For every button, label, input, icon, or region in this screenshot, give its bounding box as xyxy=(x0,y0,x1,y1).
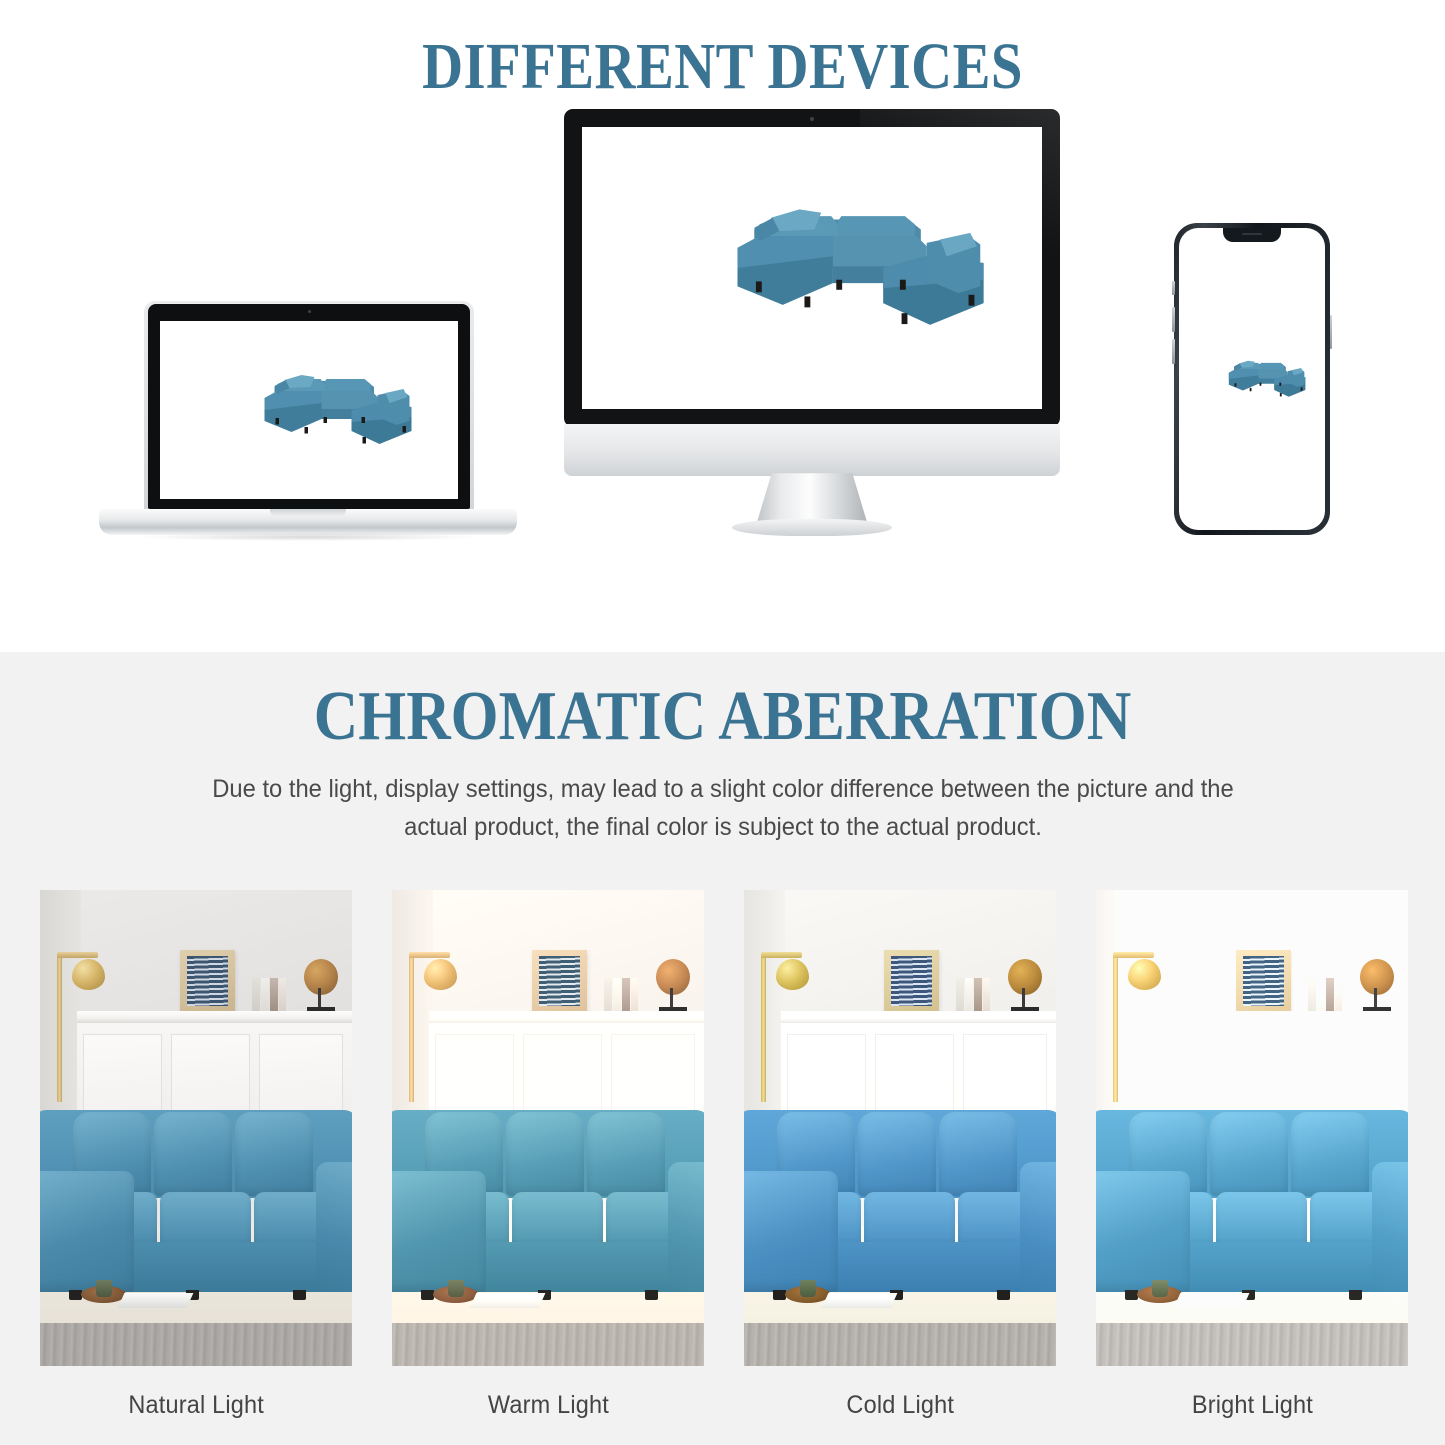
floor-lamp-pole xyxy=(57,954,62,1102)
phone-power-button[interactable] xyxy=(1330,315,1333,349)
book-stack xyxy=(252,978,286,1013)
book xyxy=(270,978,278,1013)
book xyxy=(631,978,639,1013)
light-comparison-grid: Natural Light xyxy=(40,890,1405,1420)
sofa-back-cushion xyxy=(1291,1112,1369,1196)
book-stack xyxy=(1308,978,1342,1013)
book xyxy=(1317,978,1325,1013)
chromatic-section-title: CHROMATIC ABERRATION xyxy=(87,652,1359,754)
laptop-screen xyxy=(160,321,458,499)
book xyxy=(613,978,621,1013)
sofa-chaise-module xyxy=(392,1171,486,1292)
floor-lamp-arm xyxy=(409,952,450,958)
phone-body xyxy=(1174,223,1330,535)
book xyxy=(279,978,287,1013)
phone-mute-switch[interactable] xyxy=(1172,281,1175,295)
light-variant-cell: Bright Light xyxy=(1096,890,1408,1420)
floor-lamp-pole xyxy=(409,954,414,1102)
magazine xyxy=(822,1293,897,1308)
sectional-sofa xyxy=(392,1099,704,1308)
room-scene xyxy=(744,890,1056,1366)
light-variant-label: Bright Light xyxy=(1191,1391,1312,1420)
light-variant-label: Natural Light xyxy=(128,1391,264,1420)
floor-lamp-pole xyxy=(761,954,766,1102)
sofa-seat-cushion xyxy=(1216,1192,1307,1246)
devices-stage xyxy=(0,101,1445,571)
sofa-back-cushion xyxy=(506,1112,584,1196)
chromatic-description-line-1: Due to the light, display settings, may … xyxy=(212,775,1148,803)
smartphone-device-mockup xyxy=(1174,223,1330,535)
sofa-product-image-phone xyxy=(1196,348,1308,410)
floor-lamp-pole xyxy=(1113,954,1118,1102)
room-photo-cold-light[interactable] xyxy=(744,890,1056,1366)
wall-ledge xyxy=(781,1011,1056,1023)
different-devices-section: DIFFERENT DEVICES xyxy=(0,0,1445,652)
framed-art-print xyxy=(1243,956,1284,1006)
sofa-right-arm xyxy=(316,1162,352,1292)
book xyxy=(604,978,612,1013)
sofa-back-cushion xyxy=(235,1112,313,1196)
sofa-seat-cushion xyxy=(160,1192,251,1246)
sofa-seat-cushion xyxy=(512,1192,603,1246)
sofa-back-cushion xyxy=(154,1112,232,1196)
phone-notch xyxy=(1223,228,1281,242)
floor-lamp-shade xyxy=(776,959,809,990)
book xyxy=(956,978,964,1013)
sectional-sofa xyxy=(1096,1099,1408,1308)
sofa-chaise-module xyxy=(744,1171,838,1292)
laptop-base xyxy=(99,509,517,535)
sofa-illustration xyxy=(1196,348,1308,410)
framed-art-print xyxy=(891,956,932,1006)
phone-earpiece-icon xyxy=(1242,233,1262,235)
sofa-foot xyxy=(645,1290,658,1300)
floor-lamp-shade xyxy=(72,959,105,990)
book xyxy=(252,978,260,1013)
sofa-right-arm xyxy=(1372,1162,1408,1292)
sculpture-stem xyxy=(1022,988,1025,1008)
book-stack xyxy=(956,978,990,1013)
framed-art-print xyxy=(187,956,228,1006)
sofa-foot xyxy=(293,1290,306,1300)
wall-ledge xyxy=(77,1011,352,1023)
light-variant-label: Warm Light xyxy=(487,1391,608,1420)
magazine xyxy=(470,1293,545,1308)
phone-screen xyxy=(1179,228,1325,530)
framed-art xyxy=(884,950,939,1013)
book xyxy=(1335,978,1343,1013)
sofa-right-arm xyxy=(1020,1162,1056,1292)
sculpture-stem xyxy=(318,988,321,1008)
magazine xyxy=(1174,1293,1249,1308)
sofa-chaise-module xyxy=(40,1171,134,1292)
room-scene xyxy=(392,890,704,1366)
monitor-bezel xyxy=(564,109,1060,427)
framed-art xyxy=(532,950,587,1013)
room-photo-warm-light[interactable] xyxy=(392,890,704,1366)
book xyxy=(622,978,630,1013)
laptop-device-mockup xyxy=(99,301,517,541)
light-variant-label: Cold Light xyxy=(846,1391,954,1420)
sectional-sofa xyxy=(40,1099,352,1308)
sofa-product-image-laptop xyxy=(202,351,417,469)
sofa-illustration xyxy=(202,351,417,469)
laptop-webcam-icon xyxy=(308,310,311,313)
chromatic-aberration-section: CHROMATIC ABERRATION Due to the light, d… xyxy=(0,652,1445,1445)
sculpture-stem xyxy=(1374,988,1377,1008)
floor-lamp-shade xyxy=(1128,959,1161,990)
sofa-back-cushion xyxy=(939,1112,1017,1196)
phone-volume-down-button[interactable] xyxy=(1172,339,1175,364)
framed-art xyxy=(1236,950,1291,1013)
framed-art-print xyxy=(539,956,580,1006)
book xyxy=(974,978,982,1013)
sculpture-stem xyxy=(670,988,673,1008)
desktop-monitor-mockup xyxy=(557,109,1067,549)
monitor-stand-neck xyxy=(756,473,868,525)
green-mug xyxy=(96,1280,112,1296)
book xyxy=(1326,978,1334,1013)
sofa-foot xyxy=(997,1290,1010,1300)
sofa-back-cushion xyxy=(1210,1112,1288,1196)
sofa-back-cushion xyxy=(587,1112,665,1196)
green-mug xyxy=(800,1280,816,1296)
sofa-seat-cushion xyxy=(864,1192,955,1246)
book xyxy=(261,978,269,1013)
laptop-bezel xyxy=(148,304,470,509)
book-stack xyxy=(604,978,638,1013)
laptop-shadow xyxy=(139,533,477,541)
light-variant-cell: Natural Light xyxy=(40,890,352,1420)
sofa-back-cushion xyxy=(858,1112,936,1196)
floor-lamp-shade xyxy=(424,959,457,990)
floor-lamp-arm xyxy=(57,952,98,958)
sofa-illustration xyxy=(632,169,992,367)
sofa-right-arm xyxy=(668,1162,704,1292)
wall-ledge xyxy=(429,1011,704,1023)
book xyxy=(983,978,991,1013)
book xyxy=(965,978,973,1013)
monitor-chin xyxy=(564,424,1060,476)
sectional-sofa xyxy=(744,1099,1056,1308)
room-scene xyxy=(40,890,352,1366)
framed-art xyxy=(180,950,235,1013)
room-scene xyxy=(1096,890,1408,1366)
monitor-webcam-icon xyxy=(810,117,814,121)
laptop-lid xyxy=(144,301,474,513)
room-photo-natural-light[interactable] xyxy=(40,890,352,1366)
laptop-trackpad-notch xyxy=(270,509,346,516)
room-photo-bright-light[interactable] xyxy=(1096,890,1408,1366)
wall-ledge xyxy=(1133,1011,1408,1023)
monitor-screen xyxy=(582,127,1042,409)
phone-volume-up-button[interactable] xyxy=(1172,307,1175,332)
sofa-chaise-module xyxy=(1096,1171,1190,1292)
book xyxy=(1308,978,1316,1013)
floor-lamp-arm xyxy=(761,952,802,958)
green-mug xyxy=(1152,1280,1168,1296)
sofa-product-image-monitor xyxy=(632,169,992,367)
magazine xyxy=(118,1293,193,1308)
light-variant-cell: Cold Light xyxy=(744,890,1056,1420)
green-mug xyxy=(448,1280,464,1296)
floor-lamp-arm xyxy=(1113,952,1154,958)
infographic-page: DIFFERENT DEVICES xyxy=(0,0,1445,1445)
chromatic-description: Due to the light, display settings, may … xyxy=(191,770,1255,846)
devices-section-title: DIFFERENT DEVICES xyxy=(101,0,1344,101)
monitor-stand-foot xyxy=(732,519,892,536)
light-variant-cell: Warm Light xyxy=(392,890,704,1420)
sofa-foot xyxy=(1349,1290,1362,1300)
